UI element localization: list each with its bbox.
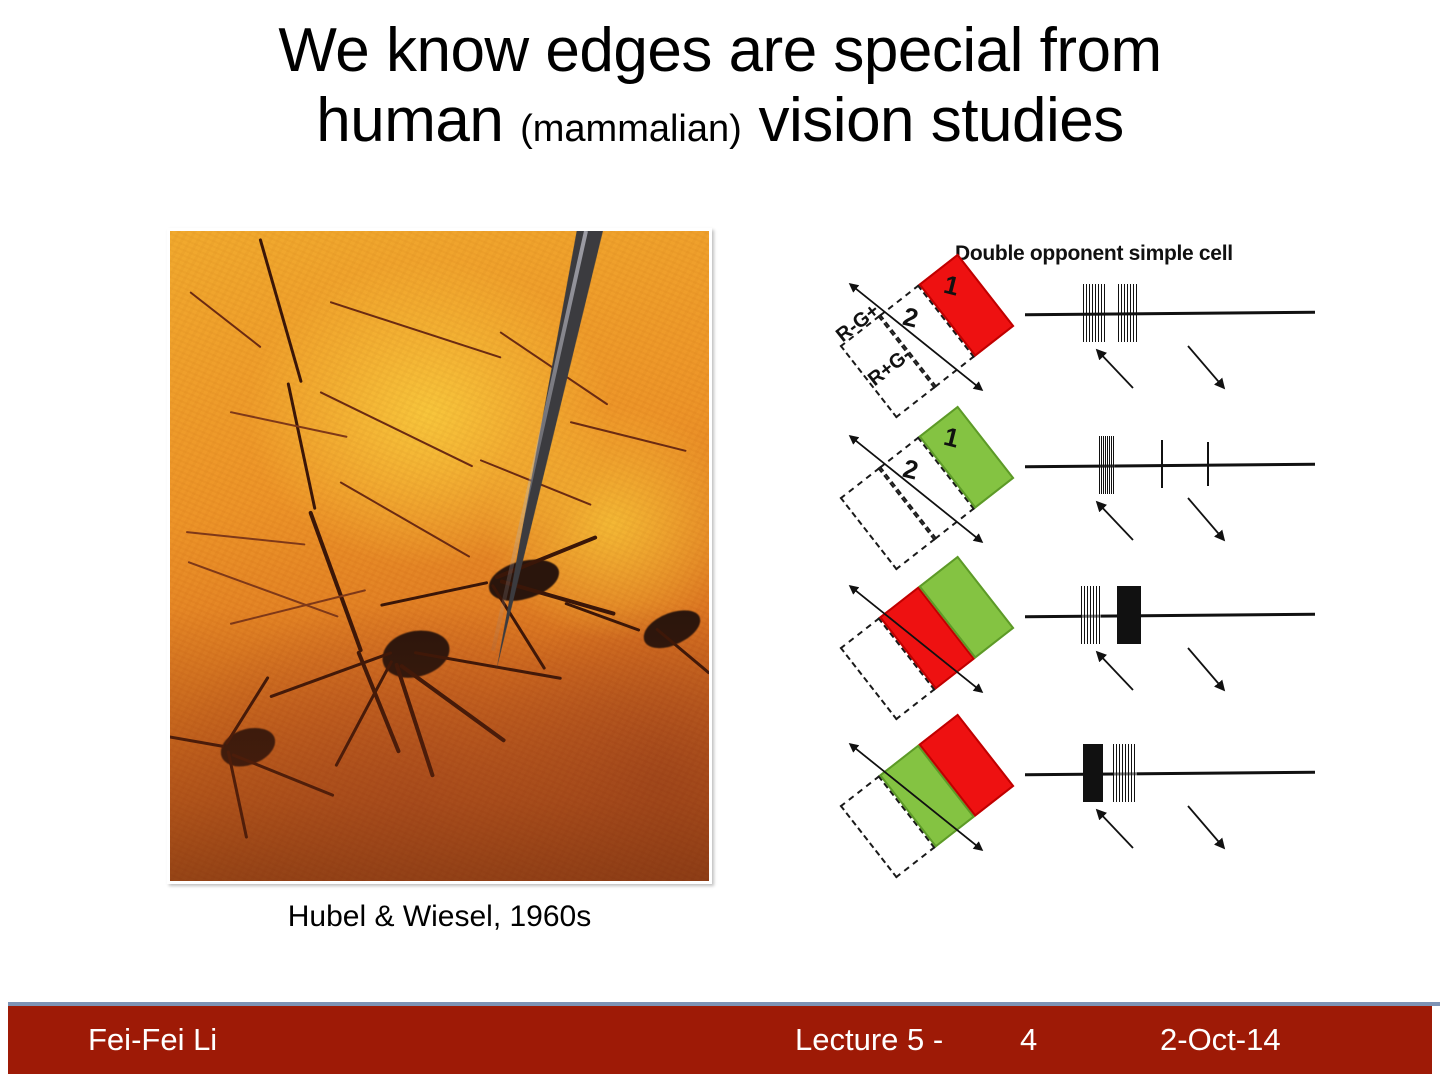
rf-orientation-axis-1: [840, 270, 1020, 410]
footer-date: 2-Oct-14: [1160, 1022, 1281, 1058]
page-title-parenthetical: (mammalian): [520, 108, 742, 150]
page-title-line-2-pre: human: [316, 86, 520, 155]
spike-trace-2: [1025, 412, 1320, 572]
footer-author: Fei-Fei Li: [88, 1022, 217, 1058]
stimulus-direction-arrows-1: [1025, 330, 1315, 410]
rf-orientation-axis-2: [840, 422, 1020, 562]
rf-row-4: [830, 720, 1030, 880]
rf-row-1: 2 1 R-G+ R+G-: [830, 260, 1030, 420]
page-title: We know edges are special from human (ma…: [95, 18, 1345, 153]
receptive-field-stimulus-2: 2 1: [830, 412, 1030, 572]
receptive-field-stimulus-1: 2 1 R-G+ R+G-: [830, 260, 1030, 420]
photo-caption: Hubel & Wiesel, 1960s: [167, 900, 712, 934]
page-title-line-1: We know edges are special from: [95, 18, 1345, 84]
trace-baseline: [1025, 613, 1315, 619]
rf-orientation-axis-4: [840, 730, 1020, 870]
spike-single: [1161, 440, 1163, 488]
page-title-line-2: human (mammalian) vision studies: [95, 88, 1345, 154]
page-title-line-2-post: vision studies: [742, 86, 1124, 155]
footer-page-number: 4: [1020, 1022, 1037, 1058]
rf-orientation-axis-3: [840, 572, 1020, 712]
spike-trace-4: [1025, 720, 1320, 880]
spike-trace-1: [1025, 260, 1320, 420]
spike-single: [1207, 442, 1209, 486]
spike-trace-3: [1025, 562, 1320, 722]
trace-baseline: [1025, 311, 1315, 317]
double-opponent-cell-figure: Double opponent simple cell 2 1 R-G+ R+G…: [830, 230, 1320, 870]
photo-vignette: [170, 608, 709, 881]
stimulus-direction-arrows-3: [1025, 632, 1315, 712]
neuron-micrograph-image: [170, 231, 709, 881]
rf-row-3: [830, 562, 1030, 722]
rf-row-2: 2 1: [830, 412, 1030, 572]
neuron-micrograph-figure: [167, 228, 712, 884]
stimulus-direction-arrows-2: [1025, 482, 1315, 562]
trace-baseline: [1025, 463, 1315, 469]
footer-lecture: Lecture 5 -: [795, 1022, 943, 1058]
receptive-field-stimulus-3: [830, 562, 1030, 722]
trace-baseline: [1025, 771, 1315, 777]
receptive-field-stimulus-4: [830, 720, 1030, 880]
stimulus-direction-arrows-4: [1025, 790, 1315, 870]
